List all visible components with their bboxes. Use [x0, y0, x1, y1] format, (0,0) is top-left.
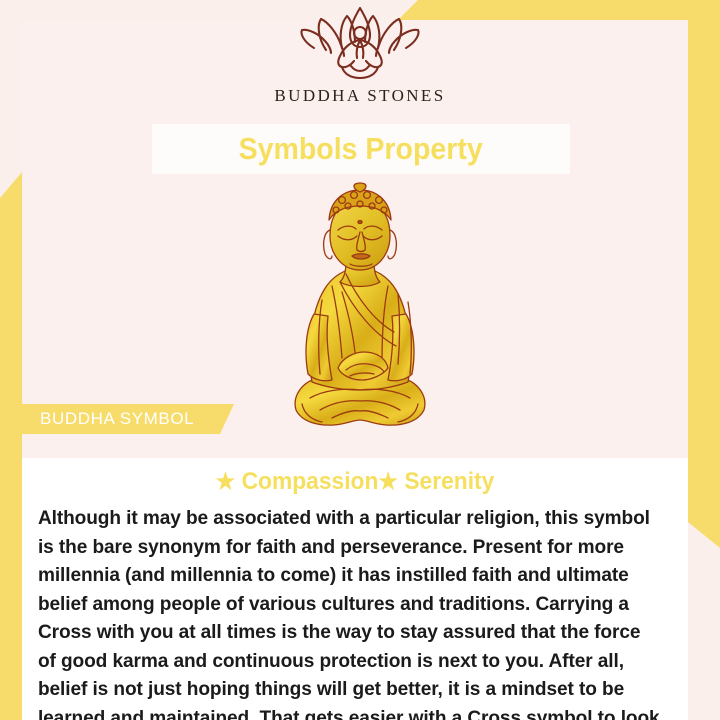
title-banner: Symbols Property	[152, 124, 570, 174]
star-icon-2: ★	[378, 468, 398, 494]
star-icon-1: ★	[216, 468, 236, 494]
content-subtitle: ★ Compassion★ Serenity	[50, 468, 660, 496]
buddha-symbol-ribbon: BUDDHA SYMBOL	[22, 404, 234, 434]
page-title: Symbols Property	[239, 131, 483, 167]
content-paragraph: Although it may be associated with a par…	[34, 504, 666, 720]
poster-root: BUDDHA STONES Symbols Property	[0, 0, 720, 720]
subtitle-word-compassion: Compassion	[235, 468, 378, 495]
hero-image	[0, 182, 720, 440]
ribbon-label: BUDDHA SYMBOL	[22, 409, 194, 429]
brand-block: BUDDHA STONES	[0, 4, 720, 106]
golden-seated-buddha-statue-icon	[262, 182, 458, 440]
brand-name: BUDDHA STONES	[274, 86, 445, 106]
lotus-meditation-icon	[296, 4, 424, 82]
subtitle-word-serenity: Serenity	[398, 468, 494, 495]
content-panel: ★ Compassion★ Serenity Although it may b…	[22, 458, 688, 720]
